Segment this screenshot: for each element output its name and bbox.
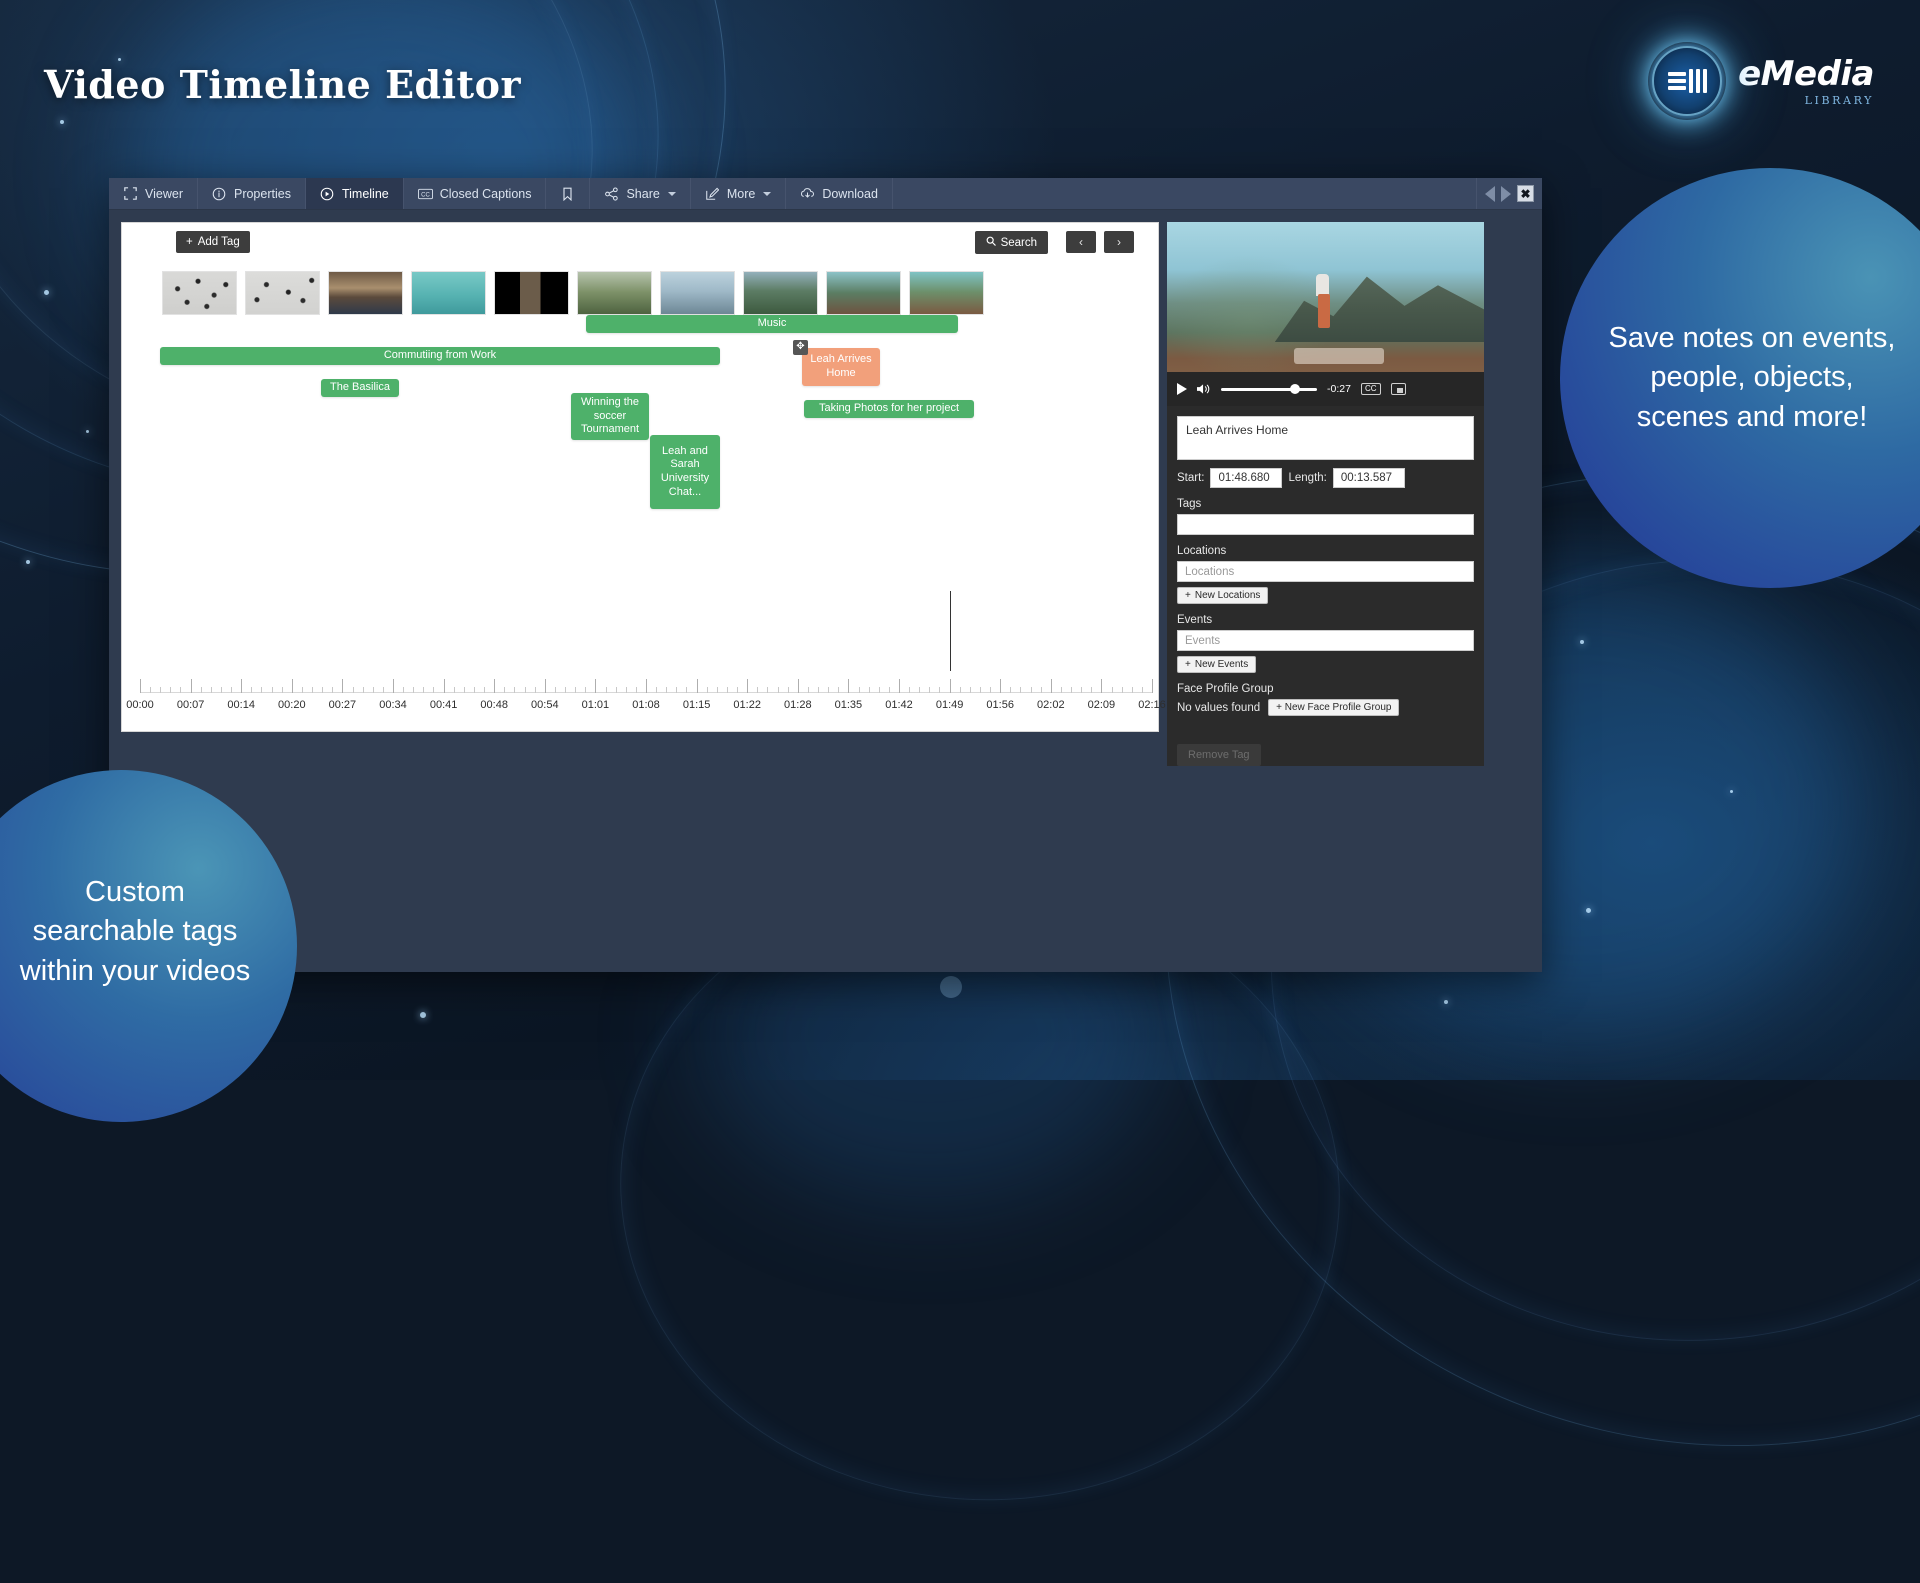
bookmark-button[interactable] xyxy=(546,178,590,209)
tab-properties[interactable]: Properties xyxy=(198,178,306,209)
ruler-tick-minor xyxy=(403,687,404,693)
tag-details-panel: -0:27 CC Leah Arrives Home Start: 01:48.… xyxy=(1167,222,1484,766)
ruler-tick-minor xyxy=(1071,687,1072,693)
background-particle xyxy=(86,430,89,433)
marketing-bubble-left-text: Custom searchable tags within your video… xyxy=(18,873,253,991)
timeline-tag[interactable]: Commutiing from Work xyxy=(160,347,720,365)
timeline-tag[interactable]: Taking Photos for her project xyxy=(804,400,974,418)
page-title: Video Timeline Editor xyxy=(44,62,521,107)
background-particle xyxy=(1730,790,1733,793)
ruler-tick-minor xyxy=(737,687,738,693)
ruler-tick-major xyxy=(444,679,445,693)
ruler-tick-minor xyxy=(201,687,202,693)
timeline-panel: + Add Tag Search ‹ › xyxy=(121,222,1159,732)
ruler-tick-minor xyxy=(606,687,607,693)
ruler-tick-minor xyxy=(909,687,910,693)
ruler-tick-minor xyxy=(413,687,414,693)
share-label: Share xyxy=(626,187,659,201)
timeline-tag-label: Taking Photos for her project xyxy=(819,402,959,416)
tab-closed-captions[interactable]: CC Closed Captions xyxy=(404,178,547,209)
plus-icon: + xyxy=(1185,659,1191,670)
new-locations-label: New Locations xyxy=(1195,590,1261,601)
tab-viewer[interactable]: Viewer xyxy=(109,178,198,209)
logo-vertical-bars-icon xyxy=(1689,69,1707,93)
ruler-tick-minor xyxy=(717,687,718,693)
ruler-tick-minor xyxy=(454,687,455,693)
ruler-label: 01:22 xyxy=(733,699,761,711)
ruler-tick-minor xyxy=(1061,687,1062,693)
ruler-tick-minor xyxy=(1010,687,1011,693)
ruler-tick-minor xyxy=(535,687,536,693)
ruler-tick-major xyxy=(292,679,293,693)
ruler-tick-major xyxy=(545,679,546,693)
ruler-tick-major xyxy=(1051,679,1052,693)
ruler-label: 00:34 xyxy=(379,699,407,711)
new-face-profile-group-button[interactable]: + New Face Profile Group xyxy=(1268,699,1399,716)
video-person-top xyxy=(1316,274,1329,296)
app-body: + Add Tag Search ‹ › xyxy=(109,210,1542,766)
ruler-tick-minor xyxy=(879,687,880,693)
cloud-download-icon xyxy=(800,186,815,201)
timeline-tag-label: Winning the soccer Tournament xyxy=(575,396,645,437)
tab-timeline[interactable]: Timeline xyxy=(306,178,404,209)
ruler-tick-minor xyxy=(1020,687,1021,693)
video-progress-slider[interactable] xyxy=(1221,388,1317,391)
ruler-tick-minor xyxy=(514,687,515,693)
ruler-tick-minor xyxy=(170,687,171,693)
length-input[interactable]: 00:13.587 xyxy=(1333,468,1405,488)
ruler-tick-minor xyxy=(676,687,677,693)
more-label: More xyxy=(727,187,755,201)
ruler-tick-major xyxy=(191,679,192,693)
ruler-tick-major xyxy=(950,679,951,693)
ruler-tick-minor xyxy=(383,687,384,693)
ruler-tick-minor xyxy=(211,687,212,693)
timeline-tag[interactable]: The Basilica xyxy=(321,379,399,397)
info-icon xyxy=(212,186,227,201)
ruler-tick-minor xyxy=(828,687,829,693)
ruler-tick-minor xyxy=(838,687,839,693)
background-particle xyxy=(44,290,49,295)
background-particle xyxy=(26,560,30,564)
previous-arrow-icon[interactable] xyxy=(1485,186,1495,202)
picture-in-picture-icon[interactable] xyxy=(1391,383,1406,395)
ruler-tick-minor xyxy=(1081,687,1082,693)
cc-icon[interactable]: CC xyxy=(1361,383,1381,395)
logo-horizontal-bars-icon xyxy=(1668,72,1686,90)
ruler-label: 02:02 xyxy=(1037,699,1065,711)
background-particle xyxy=(1444,1000,1448,1004)
background-particle xyxy=(1580,640,1584,644)
ruler-tick-minor xyxy=(859,687,860,693)
ruler-label: 00:41 xyxy=(430,699,458,711)
ruler-tick-minor xyxy=(980,687,981,693)
ruler-tick-minor xyxy=(282,687,283,693)
close-icon[interactable]: ✖ xyxy=(1517,185,1534,202)
ruler-label: 00:48 xyxy=(480,699,508,711)
ruler-label: 01:49 xyxy=(936,699,964,711)
ruler-tick-major xyxy=(747,679,748,693)
chevron-down-icon xyxy=(763,192,771,196)
ruler-tick-minor xyxy=(160,687,161,693)
window-controls: ✖ xyxy=(1477,178,1542,209)
ruler-tick-minor xyxy=(767,687,768,693)
ruler-tick-minor xyxy=(525,687,526,693)
face-profile-group-label: Face Profile Group xyxy=(1177,683,1474,695)
ruler-tick-minor xyxy=(990,687,991,693)
move-handle-icon[interactable]: ✥ xyxy=(793,340,808,355)
events-input[interactable]: Events xyxy=(1177,630,1474,651)
ruler-tick-major xyxy=(1152,679,1153,693)
ruler-tick-major xyxy=(595,679,596,693)
ruler-tick-major xyxy=(140,679,141,693)
cc-icon: CC xyxy=(418,186,433,201)
ruler-tick-minor xyxy=(373,687,374,693)
ruler-label: 01:28 xyxy=(784,699,812,711)
expand-icon xyxy=(123,186,138,201)
tags-input[interactable] xyxy=(1177,514,1474,535)
logo-badge-icon xyxy=(1648,42,1726,120)
ruler-tick-major xyxy=(798,679,799,693)
edit-icon xyxy=(705,186,720,201)
video-controls: -0:27 CC xyxy=(1167,372,1484,406)
ruler-tick-major xyxy=(646,679,647,693)
application-window: Viewer Properties Timeline CC xyxy=(109,178,1542,972)
ruler-label: 00:20 xyxy=(278,699,306,711)
ruler-tick-minor xyxy=(353,687,354,693)
ruler-label: 02:16 xyxy=(1138,699,1166,711)
volume-icon[interactable] xyxy=(1197,383,1211,395)
timeline-playhead[interactable] xyxy=(950,591,951,671)
timeline-tag[interactable]: Leah Arrives Home✥ xyxy=(802,348,880,386)
ruler-label: 00:27 xyxy=(329,699,357,711)
ruler-tick-minor xyxy=(666,687,667,693)
ruler-label: 01:08 xyxy=(632,699,660,711)
ruler-tick-minor xyxy=(727,687,728,693)
face-profile-group-row: No values found + New Face Profile Group xyxy=(1177,699,1474,716)
ruler-tick-minor xyxy=(150,687,151,693)
ruler-label: 00:07 xyxy=(177,699,205,711)
ruler-tick-minor xyxy=(433,687,434,693)
tab-viewer-label: Viewer xyxy=(145,187,183,201)
locations-label: Locations xyxy=(1177,545,1474,557)
timeline-tag[interactable]: Leah and Sarah University Chat... xyxy=(650,435,720,509)
ruler-tick-minor xyxy=(1091,687,1092,693)
logo-name: eMedia xyxy=(1738,57,1874,91)
ruler-label: 01:35 xyxy=(835,699,863,711)
timeline-tag[interactable]: Music xyxy=(586,315,958,333)
ruler-tick-minor xyxy=(261,687,262,693)
share-icon xyxy=(604,186,619,201)
tab-timeline-label: Timeline xyxy=(342,187,389,201)
ruler-tick-minor xyxy=(585,687,586,693)
ruler-tick-minor xyxy=(332,687,333,693)
ruler-tick-minor xyxy=(686,687,687,693)
ruler-tick-minor xyxy=(1132,687,1133,693)
svg-text:CC: CC xyxy=(421,192,430,198)
video-remaining-time: -0:27 xyxy=(1327,383,1351,395)
ruler-label: 00:54 xyxy=(531,699,559,711)
background-particle xyxy=(60,120,64,124)
background-particle xyxy=(118,58,121,61)
start-label: Start: xyxy=(1177,472,1204,484)
ruler-tick-minor xyxy=(221,687,222,693)
ruler-tick-major xyxy=(1101,679,1102,693)
ruler-tick-minor xyxy=(616,687,617,693)
ruler-tick-major xyxy=(241,679,242,693)
ruler-label: 00:14 xyxy=(227,699,255,711)
logo-subtitle: LIBRARY xyxy=(1738,95,1874,106)
ruler-label: 01:42 xyxy=(885,699,913,711)
new-events-label: New Events xyxy=(1195,659,1248,670)
play-circle-icon xyxy=(320,186,335,201)
ruler-tick-minor xyxy=(788,687,789,693)
video-preview[interactable]: -0:27 CC xyxy=(1167,222,1484,406)
new-locations-button[interactable]: + New Locations xyxy=(1177,587,1268,604)
ruler-tick-minor xyxy=(1112,687,1113,693)
ruler-tick-minor xyxy=(302,687,303,693)
timeline-tag-label: Music xyxy=(758,317,787,331)
ruler-label: 02:09 xyxy=(1088,699,1116,711)
video-progress-knob[interactable] xyxy=(1290,384,1300,394)
timeline-tag-label: Leah Arrives Home xyxy=(806,353,876,381)
timeline-tags-layer: MusicCommutiing from WorkThe BasilicaWin… xyxy=(122,223,1158,731)
ruler-tick-major xyxy=(494,679,495,693)
tag-title-input[interactable]: Leah Arrives Home xyxy=(1177,416,1474,460)
plus-icon: + xyxy=(1185,590,1191,601)
background-particle xyxy=(940,976,962,998)
download-button[interactable]: Download xyxy=(786,178,893,209)
play-icon[interactable] xyxy=(1177,383,1187,395)
marketing-bubble-right-text: Save notes on events, people, objects, s… xyxy=(1602,319,1902,437)
app-toolbar: Viewer Properties Timeline CC xyxy=(109,178,1542,210)
video-mountain-shape xyxy=(1275,256,1484,342)
ruler-tick-minor xyxy=(869,687,870,693)
video-person-bottom xyxy=(1318,294,1330,328)
tab-closed-captions-label: Closed Captions xyxy=(440,187,532,201)
ruler-label: 01:01 xyxy=(582,699,610,711)
ruler-tick-minor xyxy=(464,687,465,693)
remove-tag-button[interactable]: Remove Tag xyxy=(1177,744,1261,766)
start-input[interactable]: 01:48.680 xyxy=(1210,468,1282,488)
timeline-tag-label: The Basilica xyxy=(330,381,390,395)
ruler-tick-minor xyxy=(1041,687,1042,693)
ruler-tick-minor xyxy=(272,687,273,693)
bookmark-icon xyxy=(560,186,575,201)
events-label: Events xyxy=(1177,614,1474,626)
ruler-tick-minor xyxy=(1122,687,1123,693)
ruler-tick-minor xyxy=(251,687,252,693)
chevron-down-icon xyxy=(668,192,676,196)
ruler-tick-minor xyxy=(808,687,809,693)
ruler-tick-minor xyxy=(575,687,576,693)
tag-form: Leah Arrives Home Start: 01:48.680 Lengt… xyxy=(1167,406,1484,766)
ruler-tick-minor xyxy=(484,687,485,693)
ruler-tick-minor xyxy=(656,687,657,693)
ruler-tick-minor xyxy=(504,687,505,693)
more-menu[interactable]: More xyxy=(691,178,786,209)
timeline-tag-label: Commutiing from Work xyxy=(384,349,496,363)
timeline-tag-label: Leah and Sarah University Chat... xyxy=(654,445,716,500)
timeline-ruler[interactable] xyxy=(140,667,1152,693)
brand-logo: eMedia LIBRARY xyxy=(1648,42,1874,120)
ruler-tick-minor xyxy=(919,687,920,693)
ruler-tick-minor xyxy=(180,687,181,693)
ruler-tick-minor xyxy=(312,687,313,693)
ruler-tick-minor xyxy=(778,687,779,693)
ruler-tick-minor xyxy=(1031,687,1032,693)
ruler-tick-major xyxy=(899,679,900,693)
background-particle xyxy=(1586,908,1591,913)
timeline-ruler-labels: 00:0000:0700:1400:2000:2700:3400:4100:48… xyxy=(140,699,1152,715)
locations-input[interactable]: Locations xyxy=(1177,561,1474,582)
face-profile-group-empty-text: No values found xyxy=(1177,702,1260,714)
ruler-tick-major xyxy=(1000,679,1001,693)
ruler-tick-minor xyxy=(565,687,566,693)
ruler-label: 01:15 xyxy=(683,699,711,711)
ruler-tick-minor xyxy=(818,687,819,693)
ruler-tick-minor xyxy=(626,687,627,693)
length-label: Length: xyxy=(1288,472,1326,484)
video-rock-shape xyxy=(1294,348,1384,364)
new-events-button[interactable]: + New Events xyxy=(1177,656,1256,673)
ruler-tick-minor xyxy=(757,687,758,693)
ruler-tick-minor xyxy=(939,687,940,693)
share-menu[interactable]: Share xyxy=(590,178,690,209)
ruler-tick-major xyxy=(848,679,849,693)
ruler-tick-minor xyxy=(555,687,556,693)
ruler-tick-minor xyxy=(707,687,708,693)
ruler-tick-minor xyxy=(636,687,637,693)
toolbar-spacer xyxy=(893,178,1477,209)
ruler-tick-minor xyxy=(231,687,232,693)
tag-time-row: Start: 01:48.680 Length: 00:13.587 xyxy=(1177,468,1474,488)
tab-properties-label: Properties xyxy=(234,187,291,201)
ruler-tick-minor xyxy=(1142,687,1143,693)
ruler-tick-minor xyxy=(960,687,961,693)
download-label: Download xyxy=(822,187,878,201)
ruler-tick-major xyxy=(393,679,394,693)
ruler-tick-minor xyxy=(363,687,364,693)
ruler-tick-minor xyxy=(322,687,323,693)
ruler-tick-minor xyxy=(970,687,971,693)
ruler-label: 01:56 xyxy=(986,699,1014,711)
background-particle xyxy=(420,1012,426,1018)
ruler-tick-minor xyxy=(889,687,890,693)
next-arrow-icon[interactable] xyxy=(1501,186,1511,202)
timeline-tag[interactable]: Winning the soccer Tournament xyxy=(571,393,649,440)
tags-label: Tags xyxy=(1177,498,1474,510)
ruler-tick-major xyxy=(697,679,698,693)
ruler-label: 00:00 xyxy=(126,699,154,711)
ruler-tick-major xyxy=(342,679,343,693)
ruler-tick-minor xyxy=(929,687,930,693)
ruler-tick-minor xyxy=(474,687,475,693)
ruler-tick-minor xyxy=(423,687,424,693)
